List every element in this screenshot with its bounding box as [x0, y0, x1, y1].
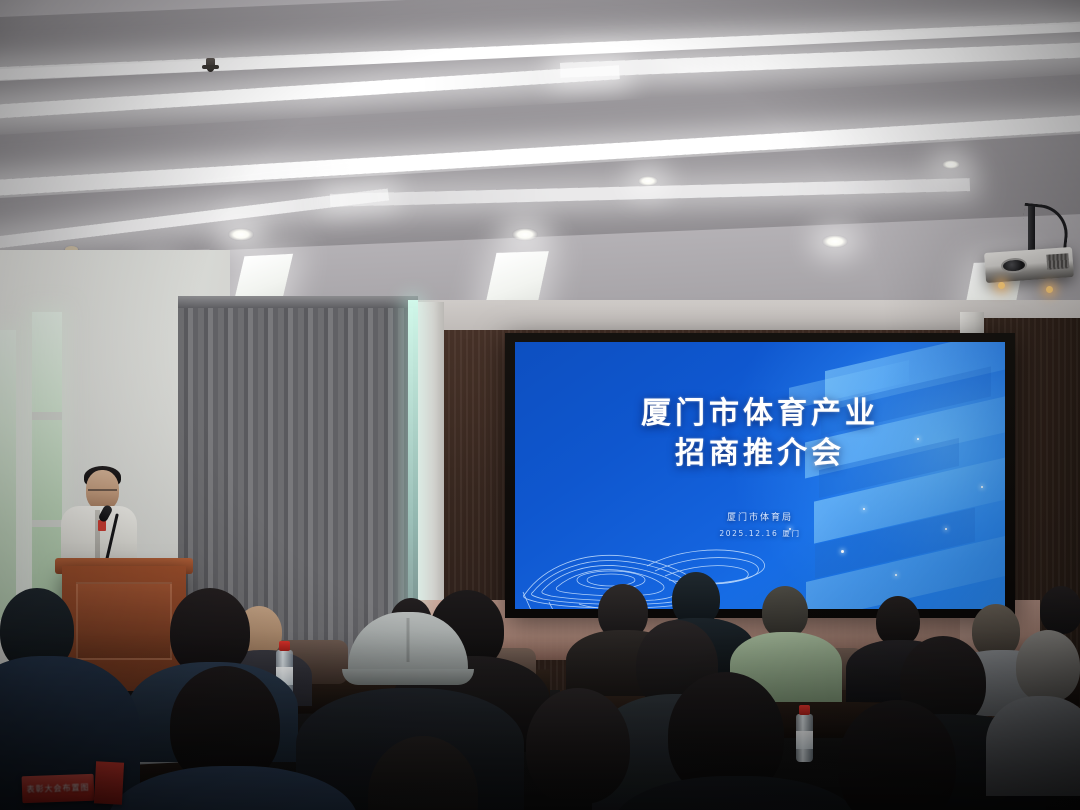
presentation-title-line2: 招商推介会: [515, 434, 1005, 474]
presentation-date-location: 2025.12.16 厦门: [515, 527, 1005, 541]
curtain-rail: [178, 296, 418, 308]
speaker-glasses-icon: [88, 489, 117, 496]
presentation-organizer: 厦门市体育局: [515, 510, 1005, 527]
podium-front-panel: [76, 582, 172, 660]
projector-indicator-led-1: [998, 282, 1005, 289]
bottle-cap-3: [799, 705, 810, 715]
window-mullion-2: [32, 520, 62, 527]
placard-text: 表彰大会布置图: [22, 774, 95, 803]
audience-head-far-8: [1040, 586, 1080, 634]
audience-head-far-6: [876, 596, 920, 646]
downlight-1: [228, 228, 254, 241]
projector-vent: [1046, 253, 1069, 269]
audience-shoulders-mid-5: [986, 696, 1080, 796]
cap-seam: [407, 618, 410, 662]
projector-indicator-led-2: [1046, 286, 1053, 293]
ceiling-projector: [984, 247, 1074, 283]
downlight-2: [512, 228, 538, 241]
window-mullion-1: [32, 412, 62, 420]
downlight-5: [638, 176, 658, 186]
presentation-screen[interactable]: 厦门市体育产业 招商推介会 厦门市体育局 2025.12.16 厦门: [515, 342, 1005, 609]
projector-mount-pole: [1028, 206, 1035, 254]
audience-head-mid-5: [1016, 630, 1080, 702]
daylight-window-2: [0, 330, 16, 620]
bottle-label-3: [796, 731, 813, 749]
projector-lens-icon: [1001, 257, 1028, 274]
audience-head-front-3: [526, 688, 630, 804]
downlight-6: [942, 160, 960, 169]
audience-head-far-5: [762, 586, 808, 638]
led-display-bezel: 厦门市体育产业 招商推介会 厦门市体育局 2025.12.16 厦门: [505, 333, 1015, 618]
red-placard-secondary: [94, 761, 124, 804]
downlight-3: [822, 235, 848, 248]
sprinkler-head: [206, 58, 215, 72]
presentation-subtitle-block: 厦门市体育局 2025.12.16 厦门: [515, 510, 1005, 541]
conference-photo-scene: 厦门市体育产业 招商推介会 厦门市体育局 2025.12.16 厦门: [0, 0, 1080, 810]
presentation-title-line1: 厦门市体育产业: [515, 394, 1005, 434]
water-bottle-3: [796, 714, 813, 762]
presentation-title: 厦门市体育产业 招商推介会: [515, 394, 1005, 473]
bottle-cap-1: [279, 641, 290, 651]
red-name-placard: 表彰大会布置图: [22, 774, 95, 803]
